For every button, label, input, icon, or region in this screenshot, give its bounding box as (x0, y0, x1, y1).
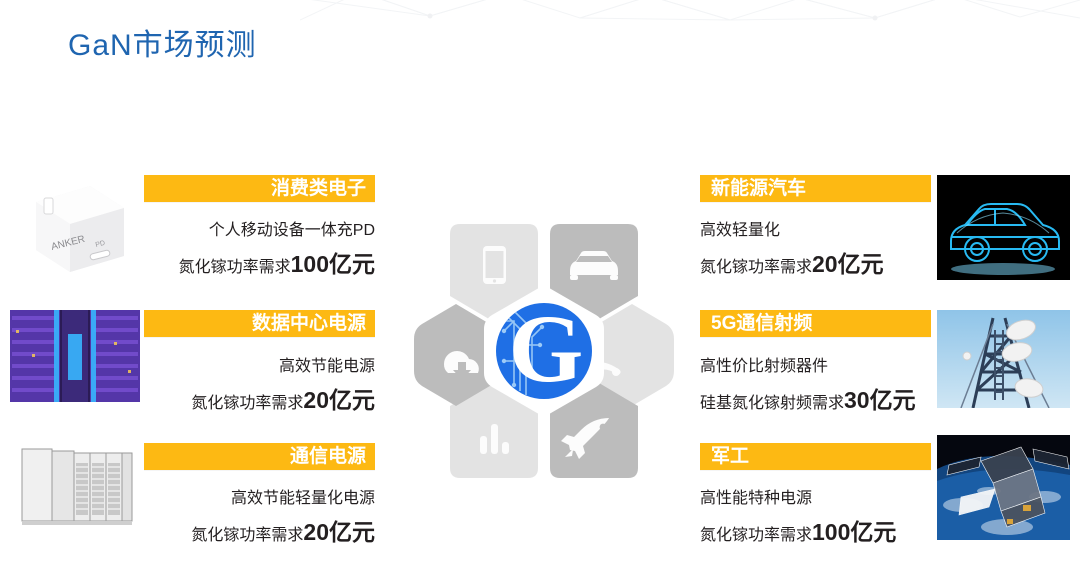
svg-text:G: G (509, 295, 584, 402)
card-line2-value: 20亿元 (303, 519, 375, 545)
hexagon-cluster: G (404, 196, 684, 506)
wifi-dot (612, 368, 620, 376)
card-title: 数据中心电源 (144, 310, 375, 337)
network-decoration (300, 0, 1080, 30)
card-line2-value: 20亿元 (303, 387, 375, 413)
card-line2-prefix: 氮化镓功率需求 (700, 527, 812, 544)
card-line2-value: 100亿元 (812, 519, 896, 545)
card-title-bar: 数据中心电源 (144, 310, 375, 337)
card-line2: 氮化镓功率需求100亿元 (0, 245, 375, 279)
card-title-bar: 军工 (700, 443, 931, 470)
card-line2-prefix: 氮化镓功率需求 (191, 395, 303, 412)
thumb-ev-xray-car (937, 175, 1070, 280)
card-title: 5G通信射频 (700, 310, 931, 337)
card-title: 通信电源 (144, 443, 375, 470)
card-title-bar: 消费类电子 (144, 175, 375, 202)
card-line1: 高效节能电源 (0, 352, 375, 376)
card-line1: 高效节能轻量化电源 (0, 484, 375, 508)
card-line2-value: 30亿元 (844, 387, 916, 413)
card-line1: 个人移动设备一体充PD (0, 216, 375, 240)
card-title: 军工 (700, 443, 931, 470)
smartphone-icon (483, 246, 506, 284)
card-line2-prefix: 氮化镓功率需求 (191, 527, 303, 544)
card-line2-prefix: 氮化镓功率需求 (179, 259, 291, 276)
card-line2-value: 100亿元 (291, 251, 375, 277)
card-line2: 氮化镓功率需求20亿元 (0, 381, 375, 415)
card-title-bar: 新能源汽车 (700, 175, 931, 202)
card-line2: 氮化镓功率需求20亿元 (0, 513, 375, 547)
card-line2-prefix: 氮化镓功率需求 (700, 259, 812, 276)
thumb-5g-antenna-tower (937, 310, 1070, 408)
card-title-bar: 通信电源 (144, 443, 375, 470)
card-title: 新能源汽车 (700, 175, 931, 202)
card-title-bar: 5G通信射频 (700, 310, 931, 337)
card-line2-value: 20亿元 (812, 251, 884, 277)
card-line2-prefix: 硅基氮化镓射频需求 (700, 395, 844, 412)
thumb-military-satellite (937, 435, 1070, 540)
card-title: 消费类电子 (144, 175, 375, 202)
page-title: GaN市场预测 (68, 20, 257, 64)
